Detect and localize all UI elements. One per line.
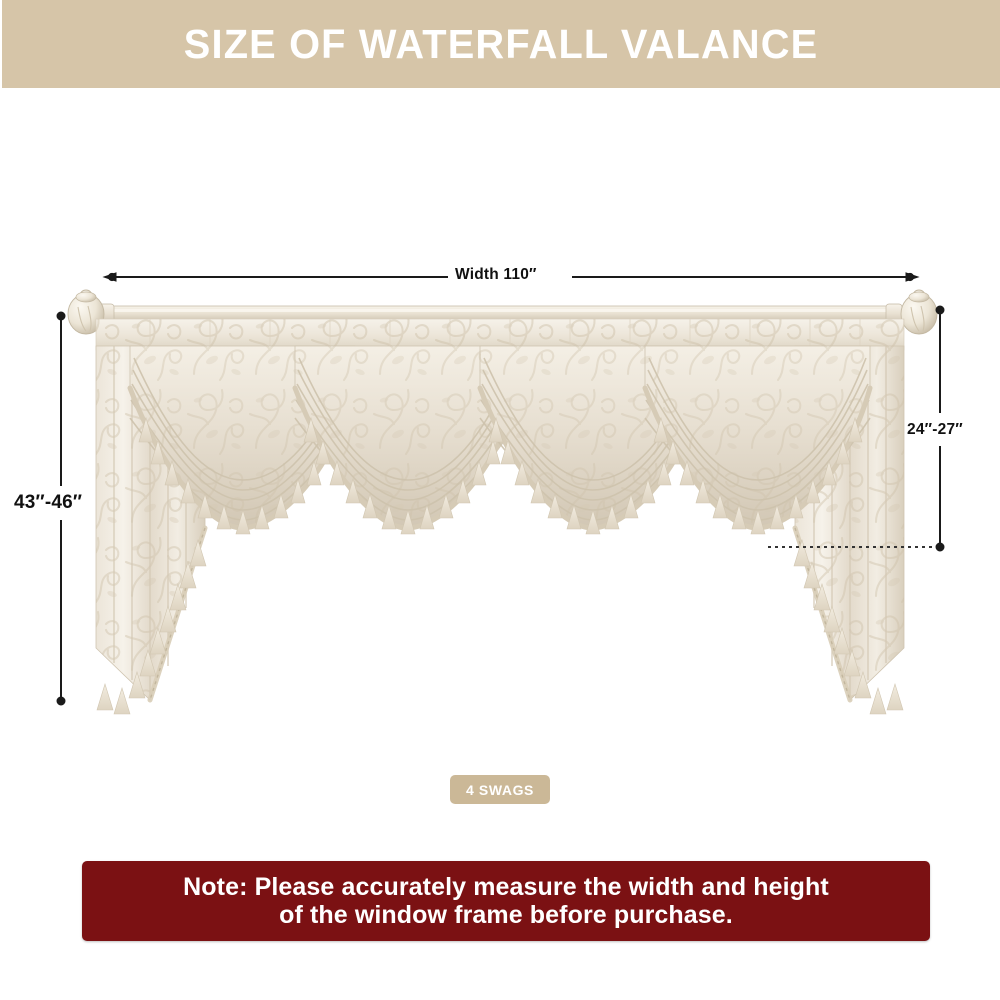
note-line-1: Note: Please accurately measure the widt… [183, 873, 829, 902]
rod-pocket-header [96, 319, 904, 350]
width-dimension-label: Width 110″ [455, 266, 537, 284]
note-banner: Note: Please accurately measure the widt… [82, 861, 930, 941]
height-left-dimension-label: 43″-46″ [14, 492, 82, 514]
swag-count-badge: 4 SWAGS [450, 775, 550, 804]
swag-count-badge-label: 4 SWAGS [466, 782, 534, 798]
height-right-dimension-label: 24″-27″ [907, 421, 963, 439]
page-title: SIZE OF WATERFALL VALANCE [184, 24, 818, 65]
valance-diagram [0, 88, 1000, 848]
header-banner: SIZE OF WATERFALL VALANCE [2, 0, 1000, 88]
note-line-2: of the window frame before purchase. [279, 901, 733, 930]
valance-illustration [0, 88, 1000, 848]
